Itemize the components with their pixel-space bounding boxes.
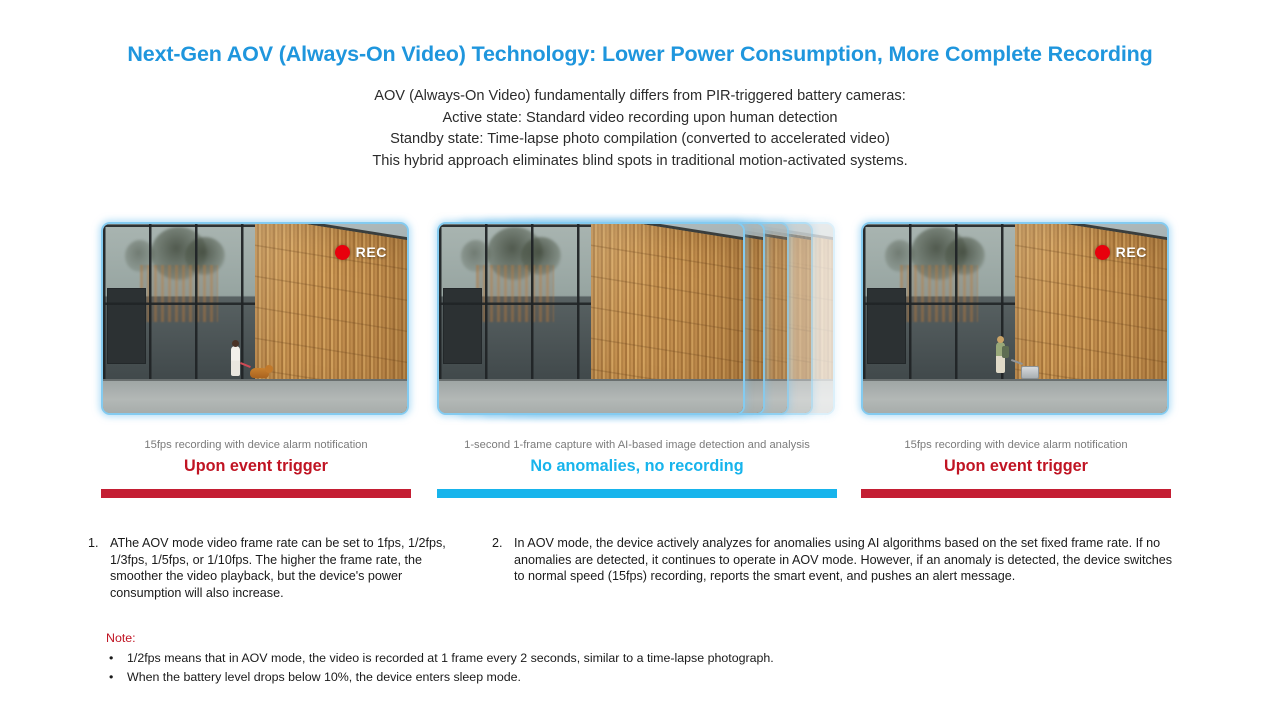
status-bar-left xyxy=(101,489,411,498)
numbered-note-1: 1. AThe AOV mode video frame rate can be… xyxy=(88,535,448,601)
subtitle-line-4: This hybrid approach eliminates blind sp… xyxy=(0,151,1280,173)
rec-badge-right: REC xyxy=(1095,244,1147,260)
panel-standby-middle xyxy=(437,222,837,415)
caption-right-sub: 15fps recording with device alarm notifi… xyxy=(861,438,1171,453)
panel-active-right: REC xyxy=(861,222,1171,415)
record-dot-icon xyxy=(335,245,350,260)
rec-badge-left: REC xyxy=(335,244,387,260)
caption-middle: 1-second 1-frame capture with AI-based i… xyxy=(437,438,837,477)
camera-frame-middle[interactable] xyxy=(437,222,745,415)
note-bullet-2: • When the battery level drops below 10%… xyxy=(106,668,1006,687)
pavement-ground xyxy=(103,379,407,413)
note-block: Note: • 1/2fps means that in AOV mode, t… xyxy=(106,630,1006,687)
pavement-ground xyxy=(863,379,1167,413)
suitcase xyxy=(1021,366,1039,379)
woman-head xyxy=(232,340,239,347)
note-bullet-2-text: When the battery level drops below 10%, … xyxy=(127,668,521,687)
subtitle-line-2: Active state: Standard video recording u… xyxy=(0,108,1280,130)
status-bars-row xyxy=(0,489,1280,499)
numbered-note-1-number: 1. xyxy=(88,535,110,601)
woman-body xyxy=(231,346,240,376)
numbered-note-1-text: AThe AOV mode video frame rate can be se… xyxy=(110,535,448,601)
bullet-marker-icon: • xyxy=(106,668,127,687)
note-title: Note: xyxy=(106,630,1006,647)
numbered-note-2: 2. In AOV mode, the device actively anal… xyxy=(492,535,1182,585)
status-bar-right xyxy=(861,489,1171,498)
rec-label: REC xyxy=(1116,244,1147,260)
caption-left-main: Upon event trigger xyxy=(101,455,411,477)
caption-middle-main: No anomalies, no recording xyxy=(437,455,837,477)
pavement-ground xyxy=(439,379,743,413)
note-bullet-1: • 1/2fps means that in AOV mode, the vid… xyxy=(106,649,1006,668)
caption-middle-sub: 1-second 1-frame capture with AI-based i… xyxy=(437,438,837,453)
traveller-head xyxy=(997,336,1004,343)
caption-right: 15fps recording with device alarm notifi… xyxy=(861,438,1171,477)
rec-label: REC xyxy=(356,244,387,260)
status-bar-middle xyxy=(437,489,837,498)
timelapse-frame-stack xyxy=(437,222,837,415)
backpack xyxy=(1002,346,1009,358)
note-bullet-1-text: 1/2fps means that in AOV mode, the video… xyxy=(127,649,774,668)
bullet-marker-icon: • xyxy=(106,649,127,668)
camera-panels-row: REC xyxy=(0,222,1280,427)
camera-frame-left[interactable]: REC xyxy=(101,222,409,415)
numbered-note-2-number: 2. xyxy=(492,535,514,585)
scene-middle xyxy=(439,224,743,413)
numbered-note-2-text: In AOV mode, the device actively analyze… xyxy=(514,535,1182,585)
subtitle-line-3: Standby state: Time-lapse photo compilat… xyxy=(0,129,1280,151)
page-title: Next-Gen AOV (Always-On Video) Technolog… xyxy=(0,42,1280,67)
subtitle-line-1: AOV (Always-On Video) fundamentally diff… xyxy=(0,86,1280,108)
dog xyxy=(250,368,269,378)
caption-left-sub: 15fps recording with device alarm notifi… xyxy=(101,438,411,453)
record-dot-icon xyxy=(1095,245,1110,260)
camera-frame-right[interactable]: REC xyxy=(861,222,1169,415)
panel-active-left: REC xyxy=(101,222,411,415)
caption-left: 15fps recording with device alarm notifi… xyxy=(101,438,411,477)
subtitle-block: AOV (Always-On Video) fundamentally diff… xyxy=(0,86,1280,172)
caption-right-main: Upon event trigger xyxy=(861,455,1171,477)
captions-row: 15fps recording with device alarm notifi… xyxy=(0,438,1280,484)
